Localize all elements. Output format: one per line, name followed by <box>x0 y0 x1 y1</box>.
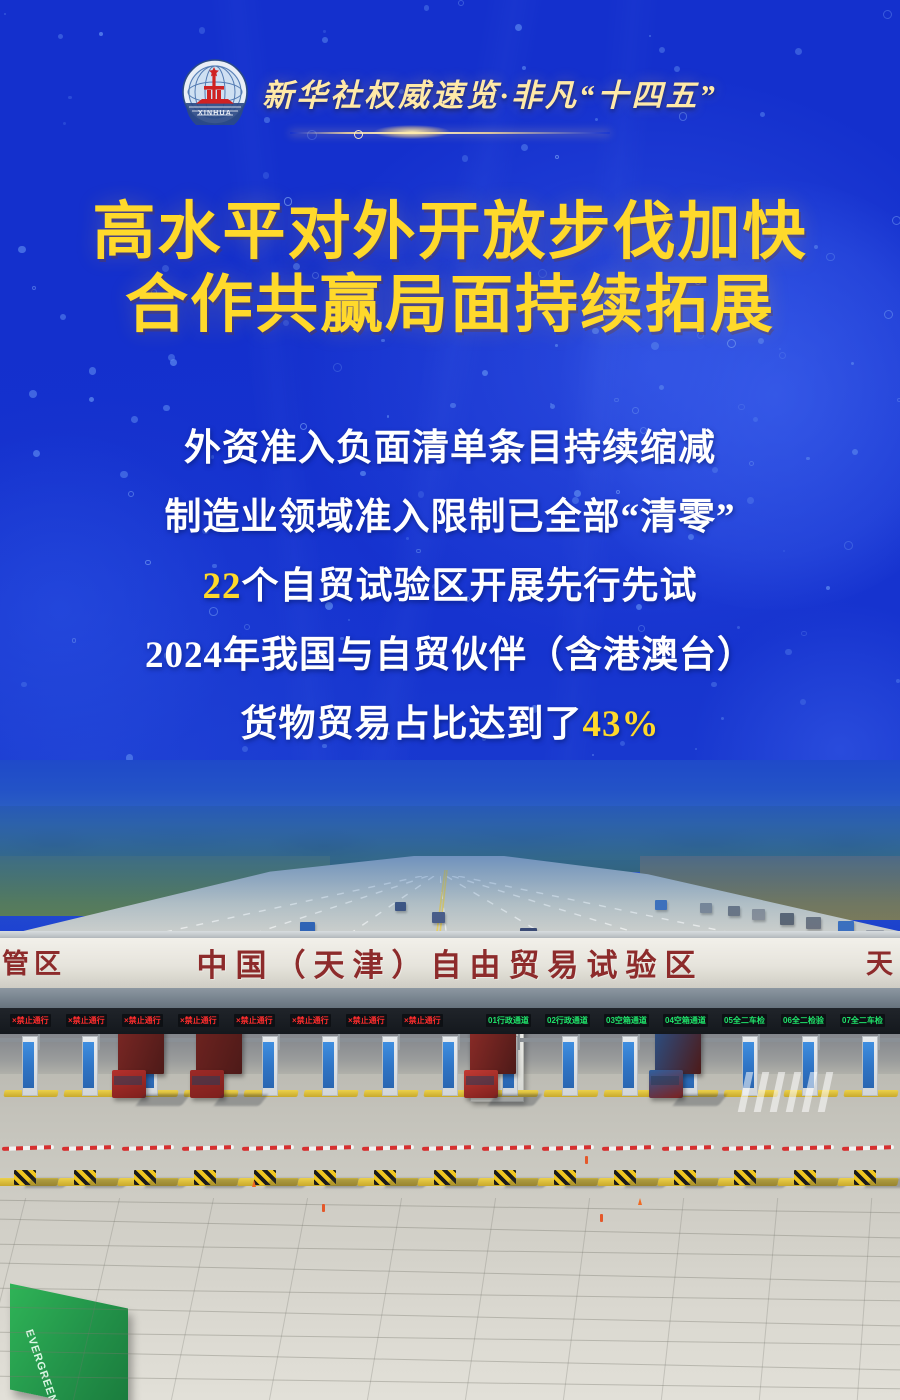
cargo-truck-windshield <box>192 1076 220 1085</box>
background-dot <box>614 398 619 403</box>
plaza-pavement-joint <box>661 1198 684 1400</box>
toll-lane-sign-closed-8: ×禁止通行 <box>402 1014 443 1027</box>
background-dot <box>4 13 6 15</box>
key-fact-5-part-1: 货物贸易占比达到了 <box>241 704 583 745</box>
toll-lane-sign-open-1: 01行政通道 <box>486 1014 531 1027</box>
plaza-pavement-joint <box>171 1198 214 1400</box>
toll-booth-panel <box>83 1042 94 1088</box>
toll-lane-sign-closed-2: ×禁止通行 <box>66 1014 107 1027</box>
highway-vehicle <box>806 917 821 929</box>
background-dot <box>779 348 781 350</box>
poster-canvas: XINHUA 新华社权威速览·非凡“十四五” 高水平对外开放步伐加快 <box>0 0 900 1400</box>
plaza-pavement-seam <box>0 1200 900 1214</box>
cargo-truck-windshield <box>114 1076 142 1085</box>
background-dot <box>58 34 63 39</box>
toll-booth-panel <box>263 1042 274 1088</box>
photo-toll-plaza: EVERGREEN <box>0 1028 900 1400</box>
plaza-pavement-seam <box>0 1219 900 1239</box>
photo-scene: 管区 中国（天津）自由贸易试验区 天 ×禁止通行×禁止通行×禁止通行×禁止通行×… <box>0 760 900 1400</box>
background-dot <box>651 342 659 350</box>
highway-vehicle <box>395 902 406 911</box>
toll-gate-arm <box>182 1145 234 1151</box>
plaza-pavement-joint <box>269 1198 308 1400</box>
toll-gate-arm <box>2 1145 54 1151</box>
background-dot <box>29 390 37 398</box>
background-dot <box>163 405 169 411</box>
toll-gate-arm <box>482 1145 534 1151</box>
toll-gate-arm <box>422 1145 474 1151</box>
background-dot <box>424 5 430 11</box>
plaza-pavement-seam <box>0 1351 900 1371</box>
toll-booth-panel <box>323 1042 334 1088</box>
photo-tianjin-free-trade-zone: 管区 中国（天津）自由贸易试验区 天 ×禁止通行×禁止通行×禁止通行×禁止通行×… <box>0 760 900 1400</box>
headline-line-1: 高水平对外开放步伐加快 <box>0 196 900 269</box>
toll-booth-panel <box>23 1042 34 1088</box>
background-dot <box>851 362 854 365</box>
background-dot <box>592 754 594 756</box>
header-title: 新华社权威速览·非凡“十四五” <box>262 70 718 115</box>
highway-vehicle <box>752 909 765 920</box>
plaza-pavement-seam <box>0 1244 900 1258</box>
toll-booth-panel <box>443 1042 454 1088</box>
toll-lane-sign-closed-5: ×禁止通行 <box>234 1014 275 1027</box>
toll-gate-arm <box>722 1145 774 1151</box>
toll-lane-sign-open-7: 07全二车检 <box>840 1014 885 1027</box>
background-dot <box>779 352 786 359</box>
toll-gate-arm <box>122 1145 174 1151</box>
background-dot <box>170 359 177 366</box>
plaza-pavement-joint <box>563 1198 590 1400</box>
background-dot <box>387 415 389 417</box>
cargo-truck-windshield <box>651 1076 679 1085</box>
key-fact-3-part-1: 22 <box>203 566 242 607</box>
toll-gate-arm <box>362 1145 414 1151</box>
plaza-traffic-cone <box>638 1198 642 1205</box>
toll-lane-sign-open-3: 03空箱通道 <box>604 1014 649 1027</box>
cargo-truck-shadow <box>672 1094 727 1106</box>
toll-gate-arm <box>602 1145 654 1151</box>
divider-bar <box>290 132 610 134</box>
background-dot <box>458 0 464 6</box>
background-dot <box>168 354 175 361</box>
toll-gate-arm <box>542 1145 594 1151</box>
toll-gate-arm <box>782 1145 834 1151</box>
key-fact-5: 货物贸易占比达到了43% <box>0 706 900 743</box>
cargo-truck-windshield <box>466 1076 494 1085</box>
header-bar: XINHUA 新华社权威速览·非凡“十四五” <box>0 56 900 128</box>
background-dot <box>462 155 469 162</box>
highway-vehicle <box>655 900 667 910</box>
xinhua-logo-icon: XINHUA <box>182 59 248 125</box>
background-dot <box>738 404 745 411</box>
background-dot <box>632 407 639 414</box>
key-fact-1: 外资准入负面清单条目持续缩减 <box>0 430 900 467</box>
background-dot <box>649 35 651 37</box>
cargo-truck-shadow <box>213 1094 268 1106</box>
background-dot <box>322 37 328 43</box>
toll-lane-sign-band: ×禁止通行×禁止通行×禁止通行×禁止通行×禁止通行×禁止通行×禁止通行×禁止通行… <box>0 1008 900 1034</box>
toll-lane-sign-open-5: 05全二车检 <box>722 1014 767 1027</box>
background-dot <box>753 417 758 422</box>
background-dot <box>99 32 104 37</box>
key-fact-5-part-2: 43% <box>583 704 660 745</box>
background-dot <box>242 746 248 752</box>
overpass-sign-main: 中国（天津）自由贸易试验区 <box>0 940 900 985</box>
background-dot <box>795 48 803 56</box>
divider-knot-icon <box>354 130 363 139</box>
background-dot <box>263 172 269 178</box>
toll-gate-arm <box>842 1145 894 1151</box>
toll-booth-panel <box>623 1042 634 1088</box>
background-dot <box>323 30 325 32</box>
toll-booth-panel <box>383 1042 394 1088</box>
background-dot <box>883 10 892 19</box>
plaza-pavement-seam <box>0 1263 900 1283</box>
toll-lane-sign-closed-1: ×禁止通行 <box>10 1014 51 1027</box>
background-dot <box>555 155 559 159</box>
toll-booth-panel <box>563 1042 574 1088</box>
key-facts-list: 外资准入负面清单条目持续缩减制造业领域准入限制已全部“清零”22个自贸试验区开展… <box>0 430 900 743</box>
background-dot <box>89 367 97 375</box>
background-dot <box>482 370 488 376</box>
toll-booth-shadow <box>864 1178 900 1188</box>
svg-text:XINHUA: XINHUA <box>198 110 232 117</box>
toll-lane-sign-closed-7: ×禁止通行 <box>346 1014 387 1027</box>
highway-vehicle <box>700 903 712 913</box>
toll-gate-arm <box>302 1145 354 1151</box>
overpass-sign-right: 天 <box>866 942 898 981</box>
divider-glow <box>374 125 450 139</box>
highway-vehicle <box>728 906 740 916</box>
cargo-truck-shadow <box>487 1094 542 1106</box>
toll-lane-sign-closed-6: ×禁止通行 <box>290 1014 331 1027</box>
key-fact-2: 制造业领域准入限制已全部“清零” <box>0 499 900 536</box>
plaza-pavement-seam <box>0 1288 900 1302</box>
toll-lane-sign-closed-4: ×禁止通行 <box>178 1014 219 1027</box>
key-fact-4-part-1: 2024年我国与自贸伙伴（含港澳台） <box>145 635 755 676</box>
key-fact-4: 2024年我国与自贸伙伴（含港澳台） <box>0 637 900 674</box>
background-dot <box>199 27 206 34</box>
background-dot <box>450 403 455 408</box>
plaza-worker <box>600 1214 603 1222</box>
key-fact-2-part-1: 制造业领域准入限制已全部“清零” <box>165 497 736 538</box>
background-dot <box>659 385 664 390</box>
toll-gate-arm <box>662 1145 714 1151</box>
key-fact-3: 22个自贸试验区开展先行先试 <box>0 568 900 605</box>
key-fact-3-part-2: 个自贸试验区开展先行先试 <box>242 566 698 607</box>
key-fact-1-part-1: 外资准入负面清单条目持续缩减 <box>184 428 716 469</box>
background-dot <box>550 404 555 409</box>
toll-lane-sign-closed-3: ×禁止通行 <box>122 1014 163 1027</box>
background-dot <box>695 748 697 750</box>
toll-booth-panel <box>863 1042 874 1088</box>
toll-gate-arm <box>242 1145 294 1151</box>
highway-vehicle <box>432 912 445 923</box>
plaza-worker <box>322 1204 325 1212</box>
background-dot <box>333 363 342 372</box>
cargo-truck-shadow <box>135 1094 190 1106</box>
background-dot <box>550 403 552 405</box>
headline-block: 高水平对外开放步伐加快 合作共赢局面持续拓展 <box>0 196 900 342</box>
toll-lane-sign-open-2: 02行政通道 <box>545 1014 590 1027</box>
plaza-pavement-joint <box>367 1198 402 1400</box>
highway-vehicle <box>780 913 794 925</box>
plaza-pavement-seam <box>0 1376 900 1390</box>
background-dot <box>515 24 522 31</box>
plaza-worker <box>585 1156 588 1164</box>
toll-lane-sign-open-6: 06全二检验 <box>781 1014 826 1027</box>
background-dot <box>521 144 528 151</box>
background-dot <box>659 47 665 53</box>
headline-line-2: 合作共赢局面持续拓展 <box>0 269 900 342</box>
header-divider <box>290 129 610 136</box>
toll-lane-sign-open-4: 04空箱通道 <box>663 1014 708 1027</box>
overpass-deck: 管区 中国（天津）自由贸易试验区 天 <box>0 938 900 988</box>
photo-overpass: 管区 中国（天津）自由贸易试验区 天 <box>0 938 900 1016</box>
background-dot <box>89 397 94 402</box>
background-dot <box>131 416 138 423</box>
background-dot <box>555 344 558 347</box>
toll-gate-arm <box>62 1145 114 1151</box>
